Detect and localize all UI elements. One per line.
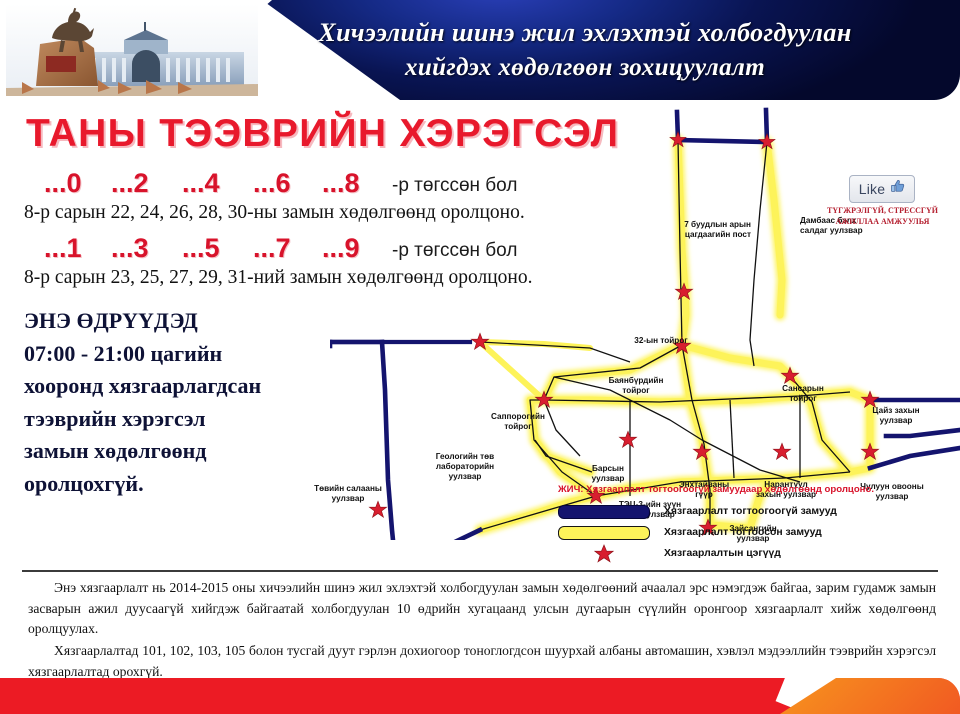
thumbs-up-icon [890,179,905,199]
like-slogan-line2: АЖИЛЛАА АМЖУУЛЬЯ [820,217,945,228]
digit-1: ...1 [44,233,82,264]
footnote-text: Энэ хязгаарлалт нь 2014-2015 оны хичээли… [28,578,936,683]
legend-item-free-roads: Хязгаарлалт тогтоогоогүй замууд [558,502,950,521]
legend-item-restriction-points: Хязгаарлалтын цэгүүд [558,544,950,563]
header-title-line1: Хичээлийн шинэ жил эхлэхтэй холбогдуулан [318,16,851,49]
legend-label-free-roads: Хязгаарлалт тогтоогоогүй замууд [664,506,837,517]
header-title: Хичээлийн шинэ жил эхлэхтэй холбогдуулан… [230,3,940,97]
map-label-geologi-lab: Геологийн төв лабораторийн уулзвар [418,452,512,482]
like-label: Like [859,181,885,197]
notice-line-4: тээврийн хэрэгсэл [24,403,324,436]
node-bars[interactable] [619,431,636,447]
map-label-7-buudal-post: 7 буудлын арын цагдаагийн пост [663,220,751,240]
map-legend: ЖИЧ: Хязгаарлалт тогтоогоогүй замуудаар … [558,484,950,565]
page-header: Хичээлийн шинэ жил эхлэхтэй холбогдуулан… [0,0,960,100]
red-star-swatch [558,548,650,560]
header-title-line2: хийгдэх хөдөлгөөн зохицуулалт [405,52,765,84]
digit-4: ...4 [182,168,220,199]
digit-3: ...3 [111,233,149,264]
facebook-like-button[interactable]: Like [849,175,915,203]
notice-line-6: оролцохгүй. [24,468,324,501]
star-icon [594,544,614,563]
restriction-notice: ЭНЭ ӨДРҮҮДЭД 07:00 - 21:00 цагийн хоорон… [24,305,324,500]
map-label-sansar-toirog: Сансарын тойрог [770,384,836,404]
map-label-sapporo-toirog: Саппорогийн тойрог [478,412,558,432]
sukhbaatar-square-photo [6,4,258,96]
page-footer [0,678,960,714]
digit-7: ...7 [253,233,291,264]
horizontal-rule [22,570,938,572]
like-slogan: ТҮГЖРЭЛГҮЙ, СТРЕССГҮЙ АЖИЛЛАА АМЖУУЛЬЯ [820,206,945,228]
traffic-restriction-map: 7 буудлын арын цагдаагийн пост Дамбаас б… [330,100,960,540]
map-label-bayanburd-toirog: Баянбүрдийн тойрог [595,376,677,396]
map-label-tuviin-salaa: Төвийн салааны уулзвар [300,484,396,504]
legend-item-restricted-roads: Хязгаарлалт тогтоосон замууд [558,523,950,542]
map-label-bars-uulzvar: Барсын уулзвар [578,464,638,484]
navy-bar-swatch [558,506,650,518]
digit-0: ...0 [44,168,82,199]
map-label-32-toirog: 32-ын тойрог [623,336,699,346]
yellow-bar-swatch [558,527,650,539]
footnote-paragraph-1: Энэ хязгаарлалт нь 2014-2015 оны хичээли… [28,578,936,640]
legend-label-restriction-points: Хязгаарлалтын цэгүүд [664,548,781,559]
legend-label-restricted-roads: Хязгаарлалт тогтоосон замууд [664,527,822,538]
digit-6: ...6 [253,168,291,199]
notice-line-5: замын хөдөлгөөнд [24,435,324,468]
restricted-roads-glow [480,140,870,530]
digit-2: ...2 [111,168,149,199]
notice-line-1: ЭНЭ ӨДРҮҮДЭД [24,305,324,338]
street-lines [480,140,850,530]
node-narantuul[interactable] [773,443,790,459]
notice-line-2: 07:00 - 21:00 цагийн [24,338,324,371]
digit-5: ...5 [182,233,220,264]
footnote-paragraph-2: Хязгаарлалтад 101, 102, 103, 105 болон т… [28,641,936,682]
notice-line-3: хооронд хязгаарлагдсан [24,370,324,403]
legend-note: ЖИЧ: Хязгаарлалт тогтоогоогүй замуудаар … [558,484,950,495]
like-slogan-line1: ТҮГЖРЭЛГҮЙ, СТРЕССГҮЙ [820,206,945,217]
map-label-tsaiz-zakh: Цайз захын уулзвар [856,406,936,426]
